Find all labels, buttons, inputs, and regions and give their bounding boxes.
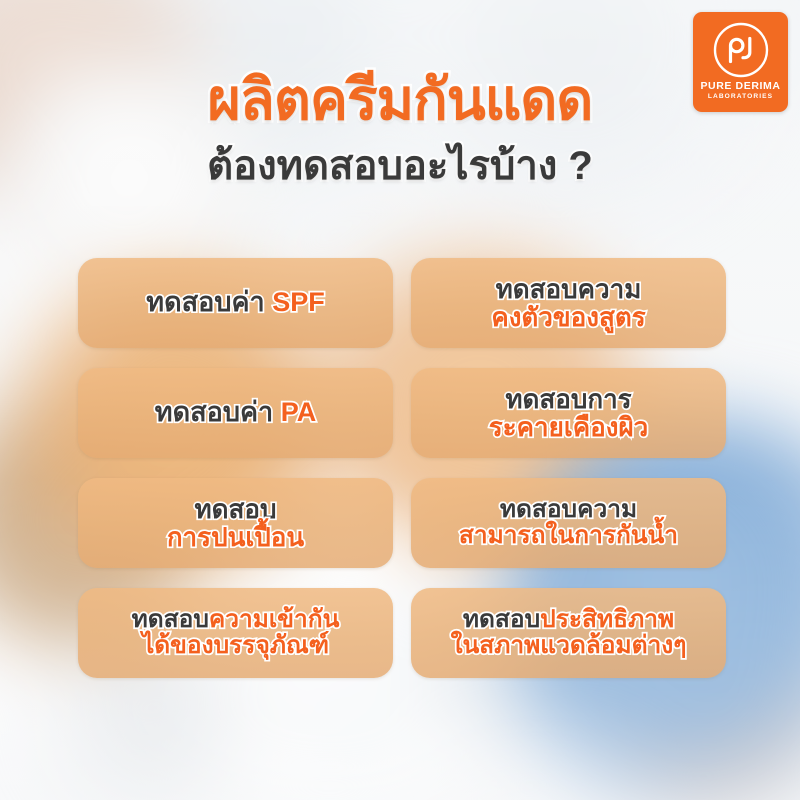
test-card-label: ทดสอบค่า SPF bbox=[146, 288, 324, 317]
test-card-line: การปนเปื้อน bbox=[167, 523, 304, 551]
test-card-segment: ทดสอบการ bbox=[505, 384, 631, 414]
test-card-skin-irritation[interactable]: ทดสอบการระคายเคืองผิว bbox=[411, 368, 726, 458]
test-card-segment: ทดสอบค่า bbox=[155, 397, 281, 427]
test-card-line: ทดสอบความเข้ากัน bbox=[132, 607, 340, 633]
test-card-segment: ทดสอบความ bbox=[500, 496, 637, 523]
test-card-label: ทดสอบความสามารถในการกันน้ำ bbox=[459, 497, 678, 550]
headline-block: ผลิตครีมกันแดด ต้องทดสอบอะไรบ้าง ? bbox=[0, 72, 800, 186]
test-card-line: ทดสอบค่า PA bbox=[155, 398, 316, 427]
test-card-formula-stability[interactable]: ทดสอบความคงตัวของสูตร bbox=[411, 258, 726, 348]
test-card-segment: PA bbox=[281, 397, 317, 427]
test-card-line: สามารถในการกันน้ำ bbox=[459, 523, 678, 549]
test-card-segment: ในสภาพแวดล้อมต่างๆ bbox=[451, 632, 687, 659]
test-card-line: ทดสอบค่า SPF bbox=[146, 288, 324, 317]
page-title: ผลิตครีมกันแดด bbox=[0, 72, 800, 129]
test-card-water-resistance[interactable]: ทดสอบความสามารถในการกันน้ำ bbox=[411, 478, 726, 568]
test-card-label: ทดสอบการระคายเคืองผิว bbox=[489, 385, 649, 441]
pdl-monogram-icon bbox=[712, 21, 770, 79]
test-card-segment: ระคายเคืองผิว bbox=[489, 412, 649, 442]
page-subtitle: ต้องทดสอบอะไรบ้าง ? bbox=[0, 146, 800, 186]
test-card-segment: ประสิทธิภาพ bbox=[540, 606, 674, 633]
test-card-line: ทดสอบประสิทธิภาพ bbox=[451, 607, 687, 633]
test-card-grid: ทดสอบค่า SPFทดสอบความคงตัวของสูตรทดสอบค่… bbox=[78, 258, 726, 678]
test-card-label: ทดสอบค่า PA bbox=[155, 398, 316, 427]
test-card-label: ทดสอบความคงตัวของสูตร bbox=[491, 275, 645, 331]
test-card-pa[interactable]: ทดสอบค่า PA bbox=[78, 368, 393, 458]
test-card-segment: ทดสอบความ bbox=[496, 274, 642, 304]
test-card-environmental-efficacy[interactable]: ทดสอบประสิทธิภาพในสภาพแวดล้อมต่างๆ bbox=[411, 588, 726, 678]
test-card-line: ทดสอบความ bbox=[459, 497, 678, 523]
test-card-line: ทดสอบความ bbox=[491, 275, 645, 303]
test-card-label: ทดสอบความเข้ากันได้ของบรรจุภัณฑ์ bbox=[132, 607, 340, 660]
infographic-poster: PURE DERIMA LABORATORIES ผลิตครีมกันแดด … bbox=[0, 0, 800, 800]
test-card-line: ทดสอบการ bbox=[489, 385, 649, 413]
test-card-contamination[interactable]: ทดสอบการปนเปื้อน bbox=[78, 478, 393, 568]
test-card-segment: ทดสอบค่า bbox=[146, 287, 272, 317]
test-card-segment: ความเข้ากัน bbox=[209, 606, 340, 633]
test-card-label: ทดสอบการปนเปื้อน bbox=[167, 495, 304, 551]
test-card-segment: ทดสอบ bbox=[194, 494, 276, 524]
test-card-segment: ได้ของบรรจุภัณฑ์ bbox=[142, 632, 329, 659]
test-card-segment: การปนเปื้อน bbox=[167, 522, 304, 552]
test-card-segment: คงตัวของสูตร bbox=[491, 302, 645, 332]
test-card-label: ทดสอบประสิทธิภาพในสภาพแวดล้อมต่างๆ bbox=[451, 607, 687, 660]
test-card-line: ระคายเคืองผิว bbox=[489, 413, 649, 441]
test-card-line: คงตัวของสูตร bbox=[491, 303, 645, 331]
test-card-line: ในสภาพแวดล้อมต่างๆ bbox=[451, 633, 687, 659]
test-card-segment: ทดสอบ bbox=[463, 606, 540, 633]
test-card-spf[interactable]: ทดสอบค่า SPF bbox=[78, 258, 393, 348]
test-card-segment: SPF bbox=[272, 287, 325, 317]
test-card-segment: สามารถในการกันน้ำ bbox=[459, 522, 678, 549]
test-card-packaging-compatibility[interactable]: ทดสอบความเข้ากันได้ของบรรจุภัณฑ์ bbox=[78, 588, 393, 678]
test-card-line: ทดสอบ bbox=[167, 495, 304, 523]
test-card-segment: ทดสอบ bbox=[132, 606, 209, 633]
test-card-line: ได้ของบรรจุภัณฑ์ bbox=[132, 633, 340, 659]
